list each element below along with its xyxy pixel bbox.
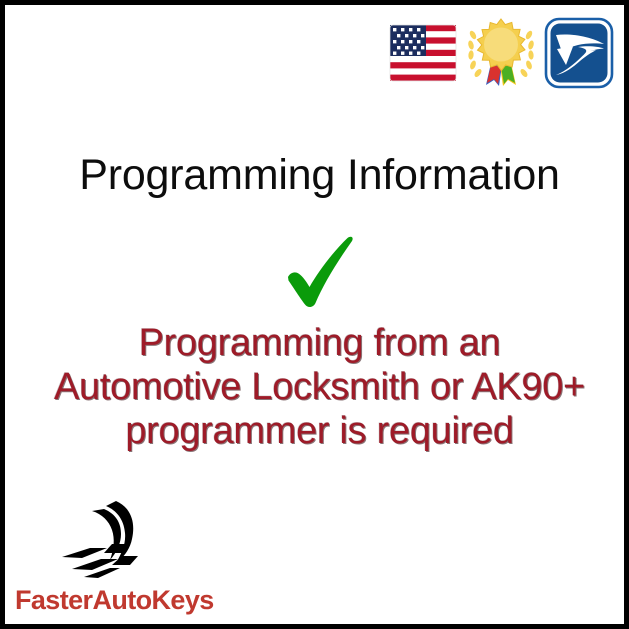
message-line-3: programmer is required xyxy=(5,409,629,453)
message-line-1: Programming from an xyxy=(5,321,629,365)
badge-row xyxy=(386,13,616,93)
award-ribbon-badge xyxy=(464,13,538,93)
brand-name: FasterAutoKeys xyxy=(15,587,255,614)
green-checkmark-icon xyxy=(277,233,363,313)
usps-eagle-badge xyxy=(542,13,616,93)
programming-information-card: Programming Information Programming from… xyxy=(0,0,629,629)
status-indicator xyxy=(5,233,629,318)
message-line-2: Automotive Locksmith or AK90+ xyxy=(5,365,629,409)
road-swoosh-logo xyxy=(60,499,164,585)
page-title: Programming Information xyxy=(5,153,629,198)
message-text: Programming from an Automotive Locksmith… xyxy=(5,321,629,453)
brand-block: FasterAutoKeys xyxy=(15,499,255,614)
us-flag-badge xyxy=(386,13,460,93)
